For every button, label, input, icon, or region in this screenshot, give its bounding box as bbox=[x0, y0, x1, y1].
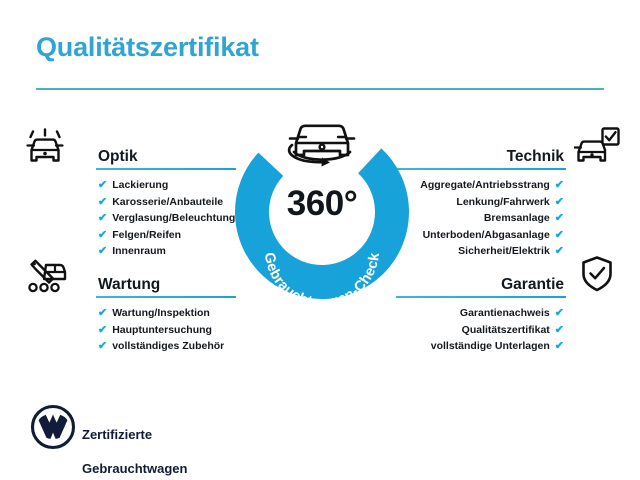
section-technik-list: Aggregate/Antriebsstrang✔ Lenkung/Fahrwe… bbox=[396, 177, 622, 260]
section-wartung-title: Wartung bbox=[98, 276, 160, 294]
section-optik-title: Optik bbox=[98, 148, 138, 166]
section-optik-header: Optik bbox=[18, 140, 236, 170]
list-item: ✔Verglasung/Beleuchtung bbox=[98, 210, 236, 227]
section-garantie-header: Garantie bbox=[396, 268, 622, 298]
footer-line-1: Zertifizierte bbox=[82, 426, 187, 443]
check-icon: ✔ bbox=[98, 196, 107, 208]
list-item-label: Hauptuntersuchung bbox=[112, 324, 212, 336]
list-item-label: Sicherheit/Elektrik bbox=[458, 245, 550, 257]
check-icon: ✔ bbox=[98, 245, 107, 257]
section-garantie: Garantie Garantienachweis✔ Qualitätszert… bbox=[396, 268, 622, 355]
list-item: ✔Lackierung bbox=[98, 177, 236, 194]
section-wartung: Wartung ✔Wartung/Inspektion ✔Hauptunters… bbox=[18, 268, 236, 355]
check-icon: ✔ bbox=[555, 196, 564, 208]
footer-line-2: Gebrauchtwagen bbox=[82, 460, 187, 477]
list-item-label: Wartung/Inspektion bbox=[112, 307, 210, 319]
check-icon: ✔ bbox=[98, 324, 107, 336]
list-item: ✔Karosserie/Anbauteile bbox=[98, 194, 236, 211]
list-item-label: Qualitätszertifikat bbox=[462, 324, 550, 336]
list-item: ✔Innenraum bbox=[98, 243, 236, 260]
car-shine-icon bbox=[22, 128, 68, 168]
vw-logo bbox=[30, 404, 76, 455]
section-optik: Optik ✔Lackierung ✔Karosserie/Anbauteile… bbox=[18, 140, 236, 260]
list-item-label: vollständiges Zubehör bbox=[112, 340, 224, 352]
list-item: ✔vollständiges Zubehör bbox=[98, 338, 236, 355]
list-item: ✔Hauptuntersuchung bbox=[98, 322, 236, 339]
360-check-badge: Gebrauchtwagen-Check 360° bbox=[222, 112, 422, 322]
list-item-label: vollständige Unterlagen bbox=[431, 340, 550, 352]
badge-360-text: 360° bbox=[222, 184, 422, 224]
check-icon: ✔ bbox=[98, 229, 107, 241]
section-garantie-list: Garantienachweis✔ Qualitätszertifikat✔ v… bbox=[396, 305, 622, 355]
page-title: Qualitätszertifikat bbox=[36, 32, 259, 63]
check-icon: ✔ bbox=[555, 340, 564, 352]
list-item-label: Karosserie/Anbauteile bbox=[112, 196, 223, 208]
section-garantie-title: Garantie bbox=[501, 276, 564, 294]
car-service-wrench-icon bbox=[22, 256, 68, 296]
list-item-label: Bremsanlage bbox=[484, 212, 550, 224]
list-item-label: Lackierung bbox=[112, 179, 168, 191]
check-icon: ✔ bbox=[555, 179, 564, 191]
footer-brand-text: Zertifizierte Gebrauchtwagen bbox=[82, 409, 187, 480]
check-icon: ✔ bbox=[555, 307, 564, 319]
certificate-page: Qualitätszertifikat Optik bbox=[0, 0, 640, 480]
list-item-label: Garantienachweis bbox=[460, 307, 550, 319]
check-icon: ✔ bbox=[98, 307, 107, 319]
footer-brand: Zertifizierte Gebrauchtwagen bbox=[30, 402, 290, 458]
list-item: vollständige Unterlagen✔ bbox=[396, 338, 564, 355]
section-optik-list: ✔Lackierung ✔Karosserie/Anbauteile ✔Verg… bbox=[18, 177, 236, 260]
car-checkbox-icon bbox=[574, 126, 620, 166]
check-icon: ✔ bbox=[98, 340, 107, 352]
list-item-label: Felgen/Reifen bbox=[112, 229, 181, 241]
shield-check-icon bbox=[574, 254, 620, 294]
check-icon: ✔ bbox=[555, 324, 564, 336]
title-divider bbox=[36, 88, 604, 90]
list-item: ✔Felgen/Reifen bbox=[98, 227, 236, 244]
list-item-label: Unterboden/Abgasanlage bbox=[423, 229, 550, 241]
check-icon: ✔ bbox=[555, 245, 564, 257]
list-item: Qualitätszertifikat✔ bbox=[396, 322, 564, 339]
section-wartung-header: Wartung bbox=[18, 268, 236, 298]
list-item-label: Innenraum bbox=[112, 245, 166, 257]
check-icon: ✔ bbox=[555, 229, 564, 241]
list-item-label: Aggregate/Antriebsstrang bbox=[420, 179, 550, 191]
list-item-label: Verglasung/Beleuchtung bbox=[112, 212, 235, 224]
list-item-label: Lenkung/Fahrwerk bbox=[456, 196, 549, 208]
section-technik: Technik Aggregate/Antriebsstrang✔ Lenkun… bbox=[396, 140, 622, 260]
check-icon: ✔ bbox=[98, 179, 107, 191]
section-optik-divider bbox=[96, 168, 236, 170]
section-technik-title: Technik bbox=[507, 148, 564, 166]
check-icon: ✔ bbox=[98, 212, 107, 224]
check-icon: ✔ bbox=[555, 212, 564, 224]
section-technik-header: Technik bbox=[396, 140, 622, 170]
list-item: ✔Wartung/Inspektion bbox=[98, 305, 236, 322]
section-wartung-divider bbox=[96, 296, 236, 298]
section-wartung-list: ✔Wartung/Inspektion ✔Hauptuntersuchung ✔… bbox=[18, 305, 236, 355]
